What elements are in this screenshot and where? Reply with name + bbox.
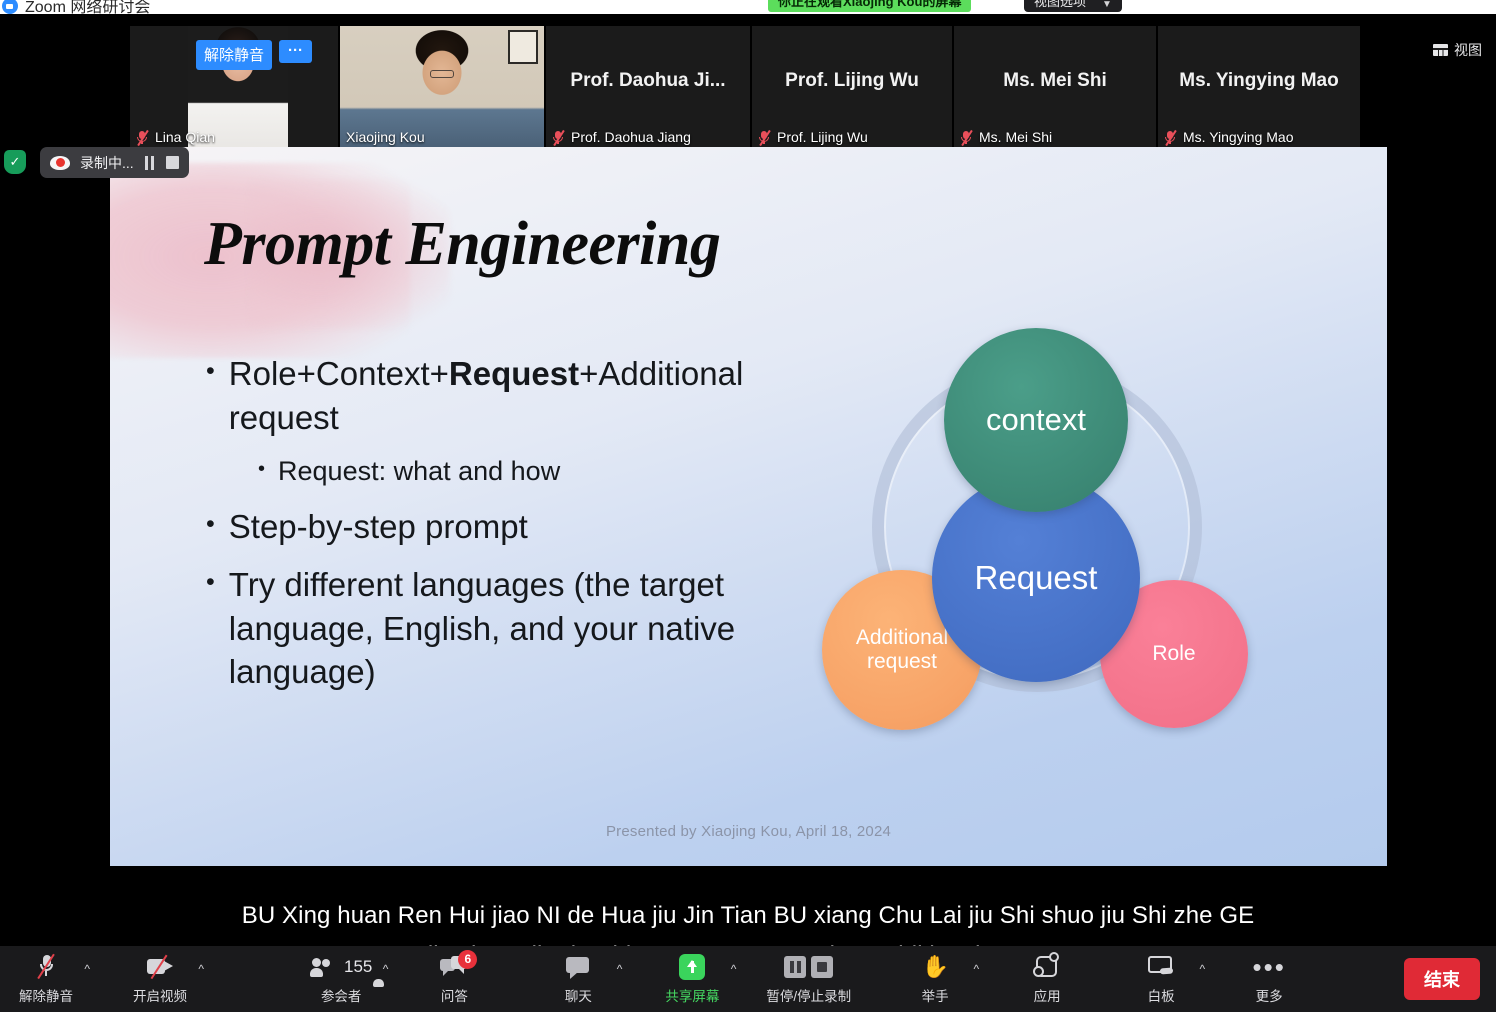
chevron-down-icon: ▼	[1102, 0, 1112, 10]
slide-bullet-list: • Role+Context+Request+Additional reques…	[206, 352, 786, 708]
participant-name-label: Prof. Lijing Wu	[758, 129, 868, 145]
diagram-role-label: Role	[1152, 642, 1195, 666]
participant-tile-mei-shi[interactable]: Ms. Mei Shi Ms. Mei Shi	[954, 26, 1156, 149]
participant-name-label: Ms. Mei Shi	[960, 129, 1052, 145]
toolbar-label-whiteboard: 白板	[1148, 985, 1175, 1005]
bullet-dot-icon: •	[206, 352, 215, 391]
microphone-muted-icon	[758, 130, 771, 145]
prompt-components-diagram: Additionalrequest Role Request context	[810, 322, 1270, 742]
microphone-muted-icon	[136, 130, 149, 145]
bullet-2-text: Request: what and how	[278, 454, 560, 489]
participant-name-label: Prof. Daohua Jiang	[552, 129, 691, 145]
microphone-muted-icon	[38, 954, 55, 980]
pause-icon[interactable]	[144, 156, 156, 170]
zoom-logo-icon	[2, 0, 18, 14]
view-options-button[interactable]: 视图选项 ▼	[1024, 0, 1122, 12]
participant-tile-lijing-wu[interactable]: Prof. Lijing Wu Prof. Lijing Wu	[752, 26, 952, 149]
participant-tile-yingying-mao[interactable]: Ms. Yingying Mao Ms. Yingying Mao	[1158, 26, 1360, 149]
recording-indicator[interactable]: 录制中...	[40, 147, 189, 178]
toolbar-button-whiteboard[interactable]: 白板	[1133, 946, 1189, 1012]
toolbar-label-qa: 问答	[441, 985, 468, 1005]
participant-display-name: Ms. Yingying Mao	[1158, 70, 1360, 92]
bullet-dot-icon: •	[206, 505, 215, 544]
participant-filmstrip[interactable]: 解除静音 ··· Lina Qian Xiaojing Kou Prof. Da…	[0, 14, 1496, 137]
toolbar-button-unmute[interactable]: 解除静音	[18, 946, 74, 1012]
microphone-muted-icon	[1164, 130, 1177, 145]
toolbar-button-start-video[interactable]: 开启视频	[132, 946, 188, 1012]
chat-options-chevron-icon[interactable]: ^	[617, 962, 623, 976]
toolbar-button-pause-stop-recording[interactable]: 暂停/停止录制	[766, 946, 851, 1012]
microphone-muted-icon	[552, 130, 565, 145]
bullet-4-text: Try different languages (the target lang…	[229, 563, 786, 695]
toolbar-button-qa[interactable]: 6 问答	[426, 946, 482, 1012]
meeting-toolbar: 解除静音 ^ 开启视频 ^ 155 参会者 ^	[0, 946, 1496, 1012]
stop-recording-icon[interactable]	[811, 956, 833, 978]
grid-view-icon	[1433, 44, 1448, 56]
tile-more-button[interactable]: ···	[279, 40, 312, 63]
bullet-item-3: • Step-by-step prompt	[206, 505, 786, 549]
participant-tile-xiaojing-kou[interactable]: Xiaojing Kou	[340, 26, 544, 149]
raise-hand-icon: ✋	[921, 954, 948, 980]
record-dot-icon	[50, 156, 70, 170]
view-button-label: 视图	[1454, 40, 1482, 60]
toolbar-label-participants: 参会者	[321, 985, 362, 1005]
end-meeting-button[interactable]: 结束	[1404, 958, 1480, 1000]
recording-status-label: 录制中...	[80, 153, 134, 173]
toolbar-label-start-video: 开启视频	[133, 985, 187, 1005]
caption-line-1: BU Xing huan Ren Hui jiao NI de Hua jiu …	[0, 896, 1496, 936]
bullet-item-2: • Request: what and how	[258, 454, 786, 489]
toolbar-button-apps[interactable]: 应用	[1019, 946, 1075, 1012]
diagram-request-label: Request	[975, 560, 1098, 597]
diagram-context-label: context	[986, 403, 1086, 438]
participant-name-label: Xiaojing Kou	[346, 129, 425, 145]
diagram-circle-context: context	[944, 328, 1128, 512]
share-options-chevron-icon[interactable]: ^	[731, 962, 737, 976]
toolbar-label-unmute: 解除静音	[19, 985, 73, 1005]
qa-unread-badge: 6	[458, 950, 477, 969]
reactions-chevron-icon[interactable]: ^	[974, 962, 980, 976]
toolbar-label-more: 更多	[1256, 985, 1283, 1005]
toolbar-label-raise-hand: 举手	[922, 985, 949, 1005]
share-screen-icon	[679, 954, 705, 980]
participant-display-name: Ms. Mei Shi	[954, 70, 1156, 92]
bullet-dot-icon: •	[206, 563, 215, 602]
diagram-additional-line2: request	[867, 650, 937, 673]
participant-tile-daohua-jiang[interactable]: Prof. Daohua Ji... Prof. Daohua Jiang	[546, 26, 750, 149]
participants-options-chevron-icon[interactable]: ^	[383, 962, 389, 976]
bullet-1-strong: Request	[449, 355, 579, 392]
shared-screen-content[interactable]: Prompt Engineering • Role+Context+Reques…	[110, 147, 1387, 866]
whiteboard-icon	[1148, 954, 1174, 980]
participant-display-name: Prof. Daohua Ji...	[546, 70, 750, 92]
video-options-chevron-icon[interactable]: ^	[198, 962, 204, 976]
unmute-button[interactable]: 解除静音	[196, 40, 272, 70]
apps-icon	[1035, 954, 1059, 980]
toolbar-button-share-screen[interactable]: 共享屏幕	[664, 946, 720, 1012]
toolbar-button-participants[interactable]: 155 参会者	[310, 946, 372, 1012]
shield-check-icon[interactable]: ✓	[4, 150, 26, 174]
view-layout-button[interactable]: 视图	[1433, 40, 1482, 60]
participant-count: 155	[344, 957, 372, 977]
diagram-additional-line1: Additional	[856, 626, 948, 649]
microphone-muted-icon	[960, 130, 973, 145]
toolbar-label-chat: 聊天	[565, 985, 592, 1005]
bullet-item-1: • Role+Context+Request+Additional reques…	[206, 352, 786, 440]
toolbar-label-share-screen: 共享屏幕	[665, 985, 719, 1005]
toolbar-button-more[interactable]: ••• 更多	[1241, 946, 1297, 1012]
toolbar-label-apps: 应用	[1034, 985, 1061, 1005]
pause-stop-record-icon	[784, 954, 833, 980]
participant-tile-lina-qian[interactable]: 解除静音 ··· Lina Qian	[130, 26, 338, 149]
participant-display-name: Prof. Lijing Wu	[752, 70, 952, 92]
view-options-label: 视图选项	[1034, 0, 1086, 10]
bullet-dot-icon: •	[258, 454, 265, 485]
participant-name-label: Ms. Yingying Mao	[1164, 129, 1294, 145]
video-off-icon	[147, 954, 174, 980]
slide-credit-line: Presented by Xiaojing Kou, April 18, 202…	[110, 823, 1387, 840]
bullet-item-4: • Try different languages (the target la…	[206, 563, 786, 695]
participants-icon: 155	[310, 954, 372, 980]
toolbar-button-raise-hand[interactable]: ✋ 举手	[907, 946, 963, 1012]
pause-recording-icon[interactable]	[784, 956, 806, 978]
more-ellipsis-icon: •••	[1252, 954, 1285, 980]
chat-icon	[566, 954, 590, 980]
slide-title: Prompt Engineering	[204, 209, 720, 280]
audio-options-chevron-icon[interactable]: ^	[84, 962, 90, 976]
participant-name-label: Lina Qian	[136, 129, 215, 145]
stop-icon[interactable]	[166, 156, 179, 169]
whiteboard-options-chevron-icon[interactable]: ^	[1200, 962, 1206, 976]
toolbar-button-chat[interactable]: 聊天	[550, 946, 606, 1012]
qa-icon: 6	[440, 954, 468, 980]
window-titlebar: Zoom 网络研讨会	[0, 0, 1496, 14]
toolbar-label-pause-stop-recording: 暂停/停止录制	[766, 985, 851, 1005]
bullet-1-prefix: Role+Context+	[229, 355, 449, 392]
screen-share-banner: 你正在观看Xiaojing Kou的屏幕	[768, 0, 971, 12]
zoom-webinar-window: Zoom 网络研讨会 你正在观看Xiaojing Kou的屏幕 视图选项 ▼ 解…	[0, 0, 1496, 1012]
bullet-3-text: Step-by-step prompt	[229, 505, 528, 549]
window-title: Zoom 网络研讨会	[25, 0, 150, 14]
